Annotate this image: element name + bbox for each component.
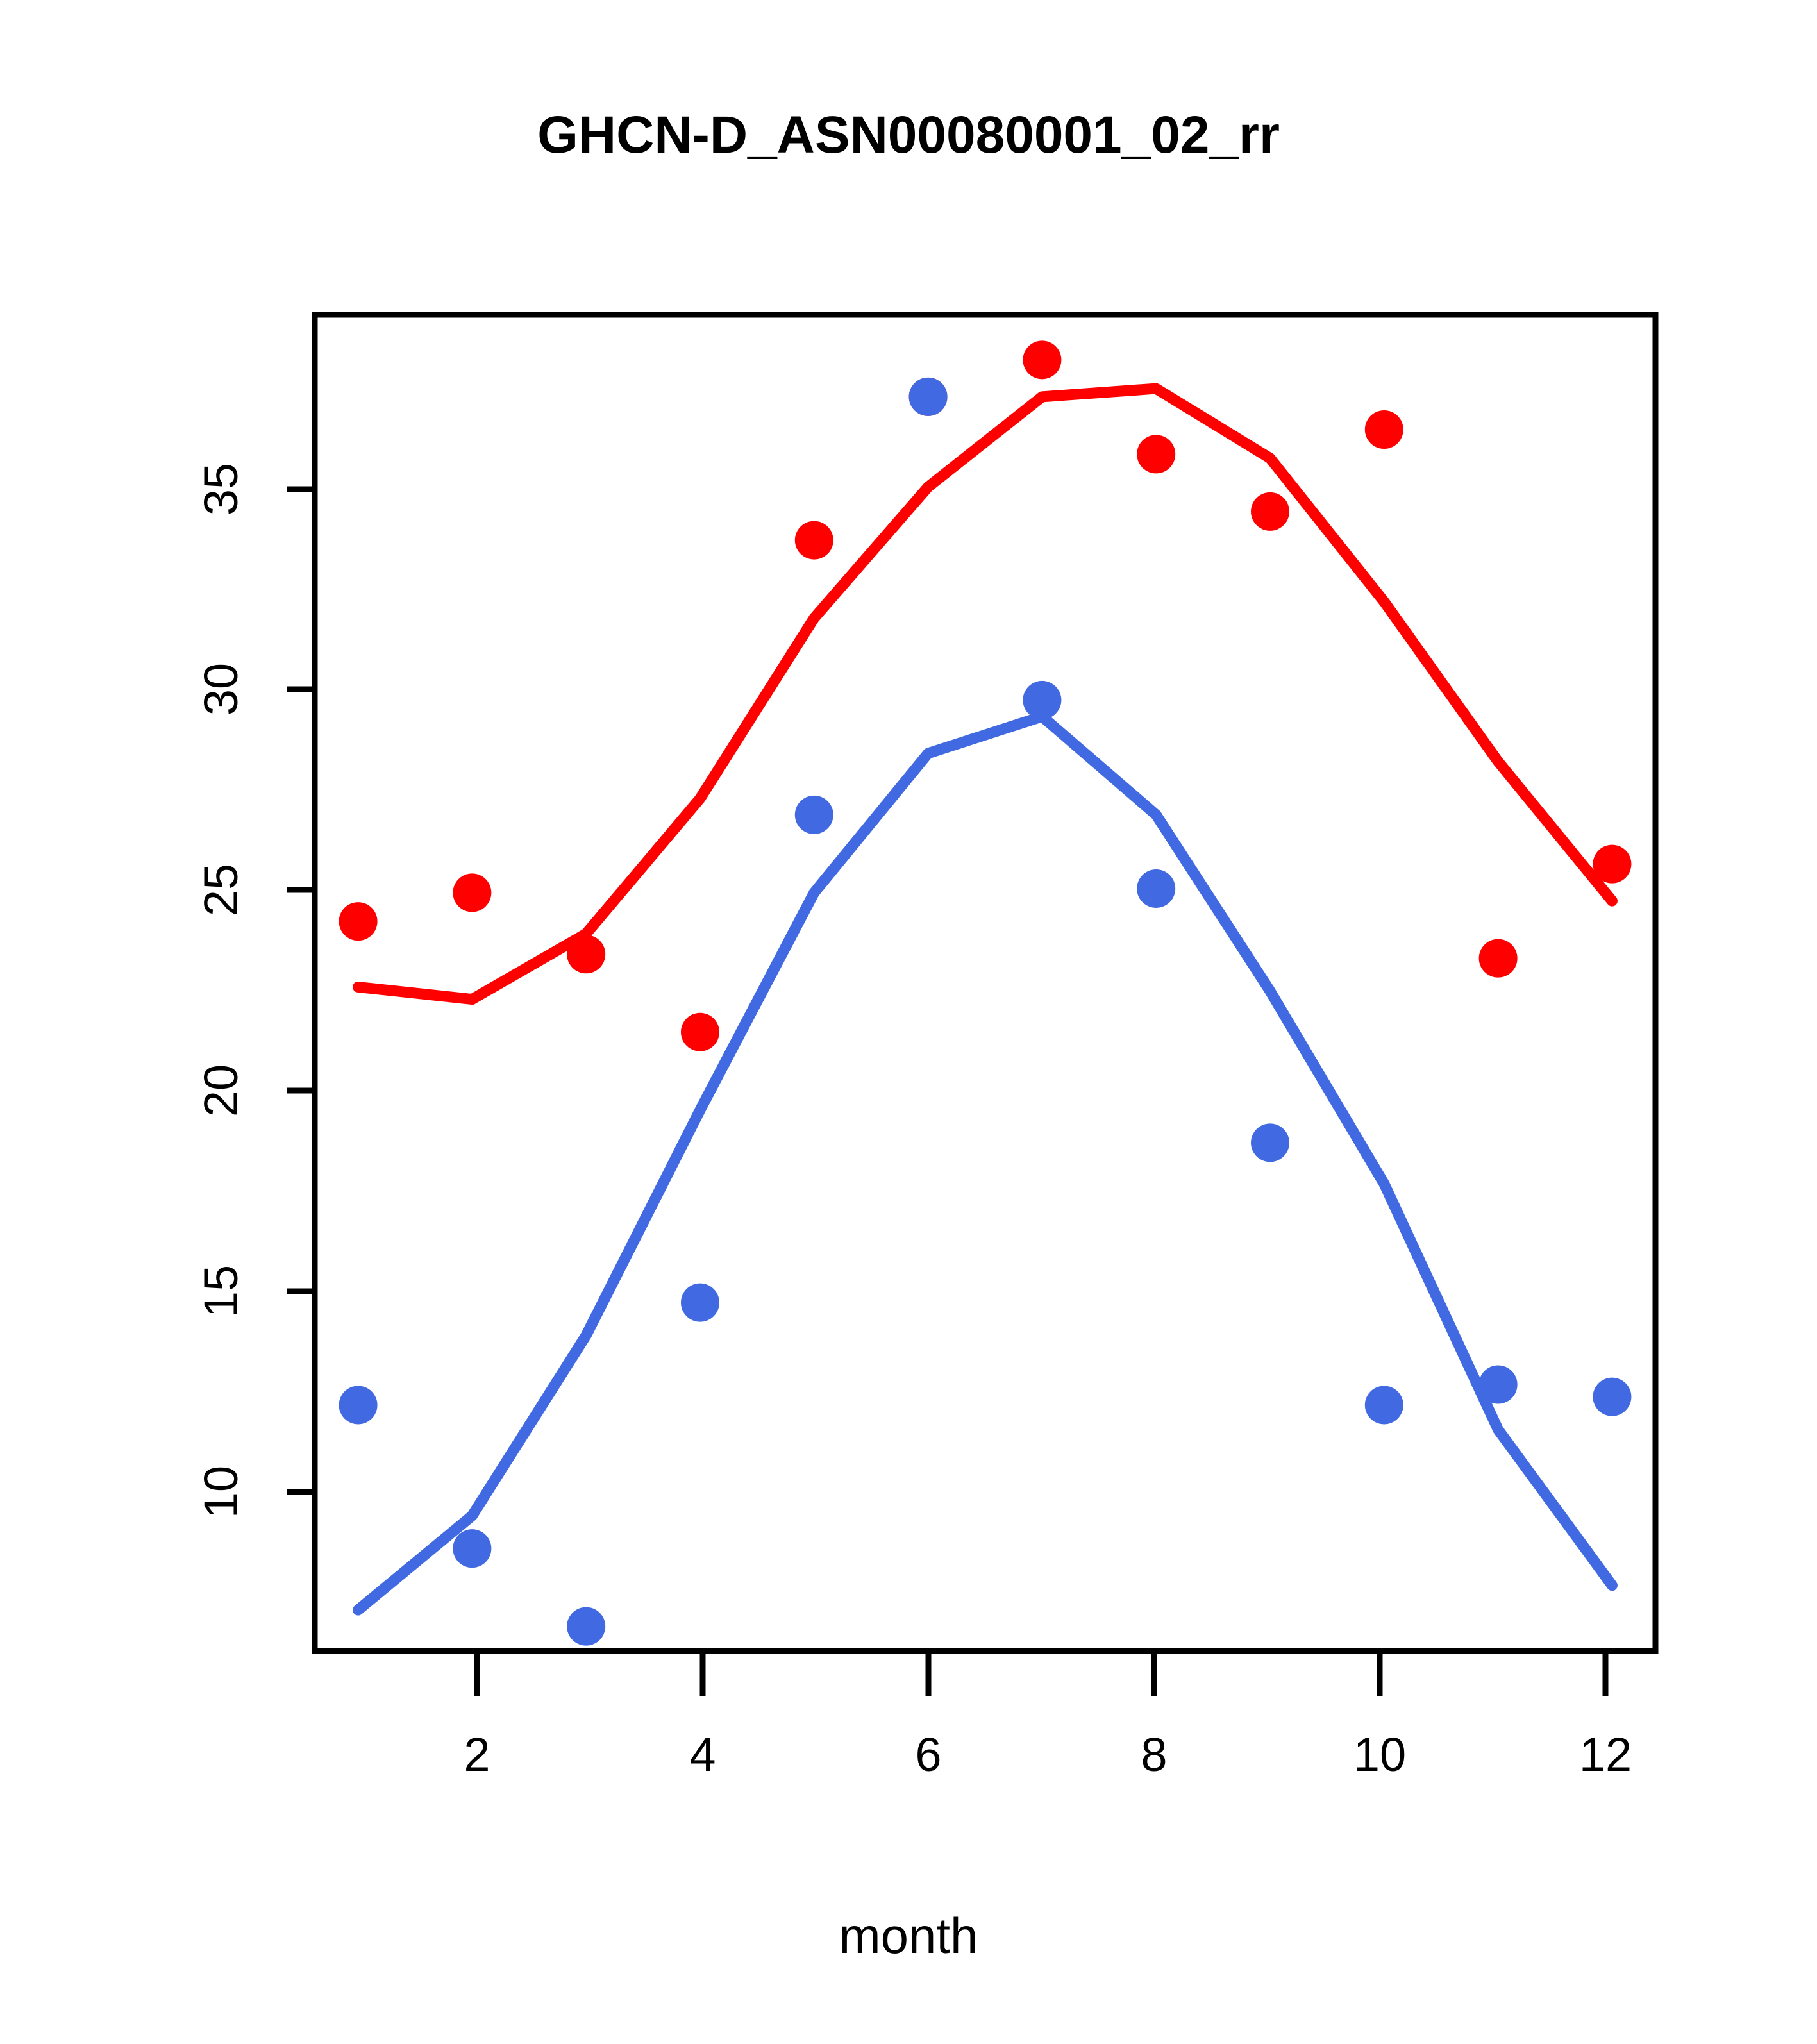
x-tick-marks [477,1651,1605,1696]
chart-page: GHCN-D_ASN00080001_02_rr 35 30 25 20 15 … [0,0,1817,2044]
data-point [1251,1123,1289,1162]
data-point [1251,492,1289,531]
data-point [1023,681,1061,719]
x-tick-label-6: 6 [915,1731,941,1779]
data-point [681,1284,719,1322]
y-tick-label-20: 20 [197,1064,245,1117]
y-tick-marks [287,489,315,1492]
data-point [1593,845,1631,884]
data-point [567,1607,605,1646]
series-points [339,340,1632,1645]
data-point [1479,1365,1518,1403]
x-tick-label-4: 4 [689,1731,716,1779]
x-tick-label-8: 8 [1141,1731,1167,1779]
data-point [1023,340,1061,379]
data-point [339,1386,378,1424]
data-point [339,902,378,941]
data-point [453,873,491,912]
data-point [1593,1378,1631,1416]
page-title: GHCN-D_ASN00080001_02_rr [0,109,1817,162]
data-point [453,1529,491,1568]
y-tick-label-35: 35 [197,463,245,515]
data-point [681,1013,719,1051]
x-axis-title: month [0,1911,1817,1961]
y-tick-label-30: 30 [197,663,245,716]
data-point [1365,1386,1403,1424]
y-tick-label-10: 10 [197,1466,245,1518]
data-layer [315,315,1655,1651]
series-line-1 [358,389,1612,1000]
data-point [1137,869,1175,908]
y-tick-label-15: 15 [197,1265,245,1318]
data-point [909,378,948,416]
data-point [795,796,833,834]
x-tick-label-2: 2 [464,1731,490,1779]
series-line-3 [358,716,1612,1610]
data-point [1365,410,1403,449]
data-point [1479,939,1518,978]
data-point [1137,435,1175,473]
y-tick-label-25: 25 [197,864,245,916]
series-lines [358,389,1612,1610]
data-point [567,935,605,973]
plot-area [315,315,1655,1651]
x-tick-label-10: 10 [1353,1731,1406,1779]
x-tick-label-12: 12 [1579,1731,1632,1779]
data-point [795,521,833,560]
